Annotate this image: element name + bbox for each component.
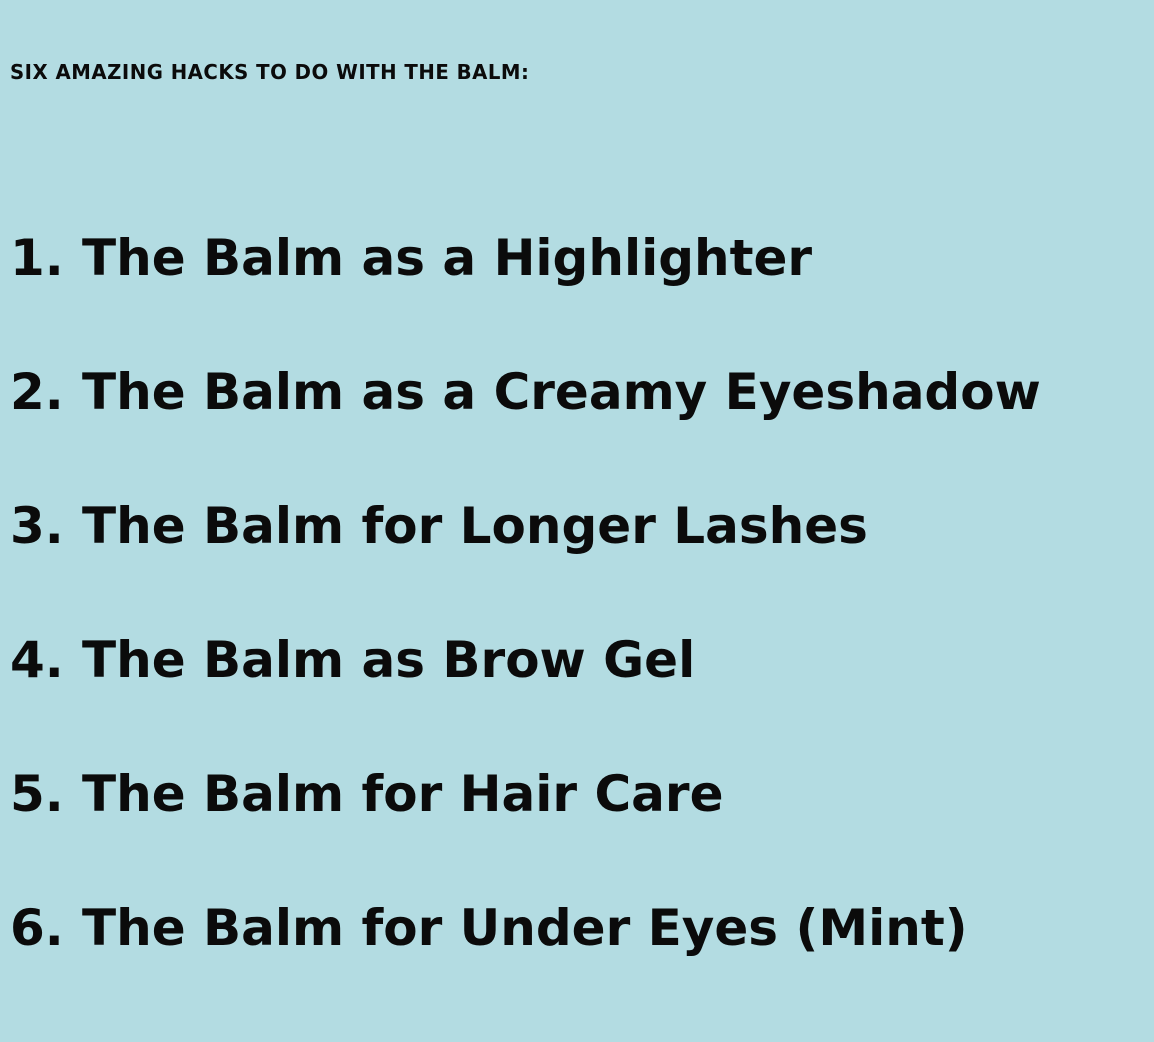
list-item-number: 5. bbox=[10, 764, 82, 824]
list-item: 1. The Balm as a Highlighter bbox=[10, 228, 1154, 362]
list-item-label: The Balm as Brow Gel bbox=[82, 630, 695, 690]
list-item-number: 1. bbox=[10, 228, 82, 288]
list-item-label: The Balm as a Highlighter bbox=[82, 228, 812, 288]
list-item: 3. The Balm for Longer Lashes bbox=[10, 496, 1154, 630]
hacks-list: 1. The Balm as a Highlighter 2. The Balm… bbox=[10, 228, 1154, 1032]
list-item: 4. The Balm as Brow Gel bbox=[10, 630, 1154, 764]
list-item-number: 6. bbox=[10, 898, 82, 958]
list-item: 5. The Balm for Hair Care bbox=[10, 764, 1154, 898]
list-item-number: 4. bbox=[10, 630, 82, 690]
poster-canvas: SIX AMAZING HACKS TO DO WITH THE BALM: 1… bbox=[0, 0, 1154, 1042]
list-item: 2. The Balm as a Creamy Eyeshadow bbox=[10, 362, 1154, 496]
list-item-number: 3. bbox=[10, 496, 82, 556]
list-item-number: 2. bbox=[10, 362, 82, 422]
list-item-label: The Balm for Under Eyes (Mint) bbox=[82, 898, 968, 958]
list-item-label: The Balm for Hair Care bbox=[82, 764, 723, 824]
list-item: 6. The Balm for Under Eyes (Mint) bbox=[10, 898, 1154, 1032]
list-item-label: The Balm for Longer Lashes bbox=[82, 496, 868, 556]
list-item-label: The Balm as a Creamy Eyeshadow bbox=[82, 362, 1041, 422]
page-title: SIX AMAZING HACKS TO DO WITH THE BALM: bbox=[10, 44, 1133, 100]
